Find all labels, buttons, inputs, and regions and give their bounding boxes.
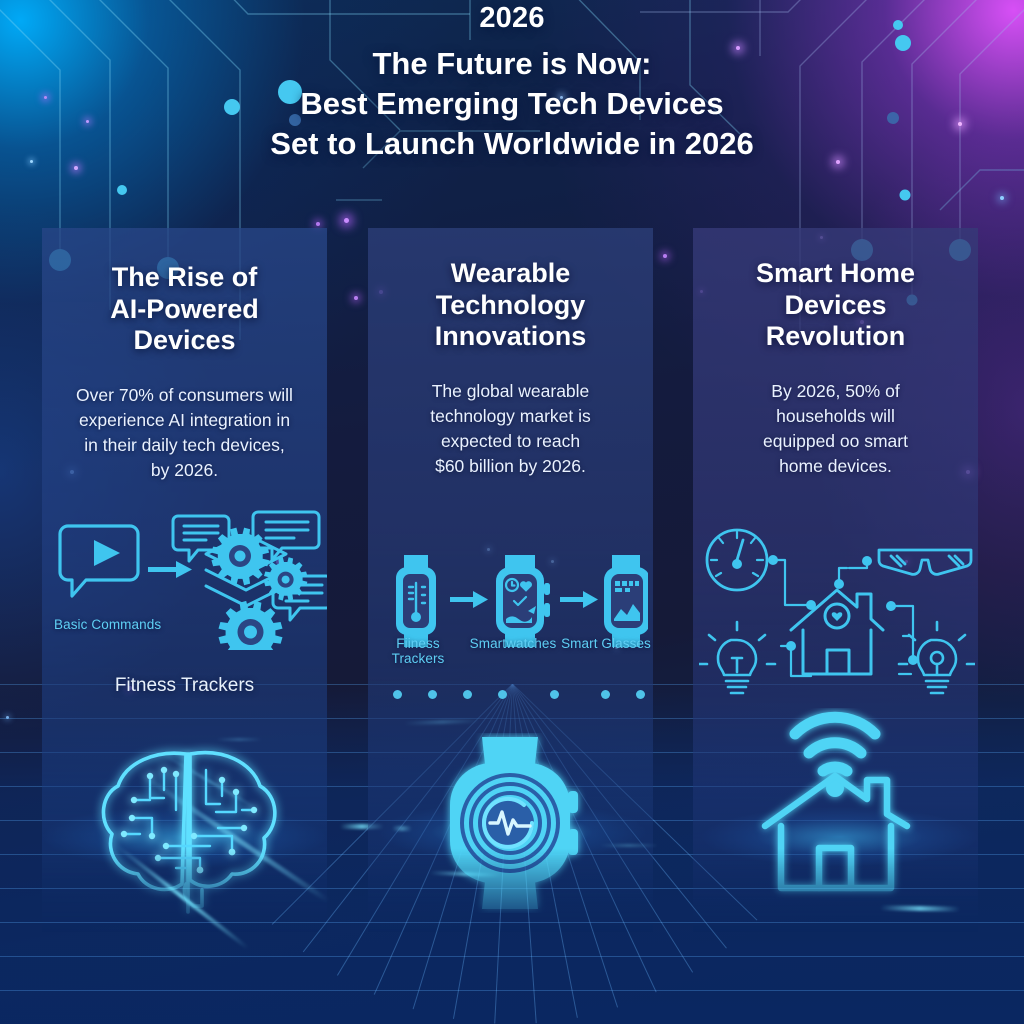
panel-2-title: Wearable Technology Innovations [368,228,653,353]
panel-3-body-line-2: households will [719,404,952,429]
circuit-brain-icon [90,740,290,920]
gear-center-3 [244,626,257,639]
arrow-right-icon [148,561,192,578]
panel-1-title-line-3: Devices [58,325,311,357]
header-title-line-3: Set to Launch Worldwide in 2026 [0,126,1024,162]
panel-3-body-line-4: home devices. [719,454,952,479]
panel-2-title-line-3: Innovations [384,321,637,353]
house-wifi-icon [751,708,921,903]
smartwatch-pulse-icon [432,733,590,913]
panel-3-body: By 2026, 50% of households will equipped… [693,353,978,480]
header-year: 2026 [0,2,1024,35]
panel-1-title: The Rise of AI-Powered Devices [42,228,327,357]
panel-2-title-line-2: Technology [384,290,637,322]
infographic-header: 2026 The Future is Now: Best Emerging Te… [0,0,1024,162]
glasses-icon [879,550,971,574]
panel-2-body-line-4: $60 billion by 2026. [394,454,627,479]
panel-1-title-line-1: The Rise of [58,262,311,294]
header-title-line-1: The Future is Now: [0,46,1024,82]
panel-3-title-line-1: Smart Home [709,258,962,290]
panel-2-flow-label-3: Smart Glasses [558,636,654,651]
panel-2-flow-label-2: Smartwatches [465,636,561,651]
gear-center-1 [235,551,246,562]
panel-row: The Rise of AI-Powered Devices Over 70% … [0,228,1024,938]
gauge-icon [707,530,767,590]
panel-1-sub-caption: Fitness Trackers [42,675,327,697]
panel-2-body-line-3: expected to reach [394,429,627,454]
house-heart-icon [791,590,883,674]
panel-1-body-line-1: Over 70% of consumers will [68,383,301,408]
gear-center-2 [282,576,290,584]
panel-3-title: Smart Home Devices Revolution [693,228,978,353]
panel-2-body: The global wearable technology market is… [368,353,653,480]
play-triangle-icon [94,540,120,566]
lightbulb-icon-left [699,622,775,693]
arrow-right-icon-2 [560,591,598,608]
panel-smart-home-devices[interactable]: Smart Home Devices Revolution By 2026, 5… [693,228,978,933]
panel-2-title-line-1: Wearable [384,258,637,290]
panel-3-title-line-3: Revolution [709,321,962,353]
progress-dot-row [393,690,633,699]
panel-wearable-technology[interactable]: Wearable Technology Innovations The glob… [368,228,653,933]
panel-1-body-line-2: experience AI integration in [68,408,301,433]
panel-1-body: Over 70% of consumers will experience AI… [42,357,327,484]
panel-2-body-line-2: technology market is [394,404,627,429]
header-title-line-2: Best Emerging Tech Devices [0,86,1024,122]
panel-2-flow-label-1: Fiiness Trackers [370,636,466,666]
smart-home-network-icon-group [699,518,975,718]
panel-1-flow-caption: Basic Commands [54,617,234,632]
panel-1-body-line-4: by 2026. [68,458,301,483]
panel-3-title-line-2: Devices [709,290,962,322]
panel-2-body-line-1: The global wearable [394,379,627,404]
panel-3-body-line-3: equipped oo smart [719,429,952,454]
panel-ai-powered-devices[interactable]: The Rise of AI-Powered Devices Over 70% … [42,228,327,933]
arrow-right-icon-1 [450,591,488,608]
heart-icon [832,612,842,621]
panel-3-body-line-1: By 2026, 50% of [719,379,952,404]
wearable-flow-icon-group [374,553,648,649]
wifi-waves-icon [795,717,875,771]
panel-1-title-line-2: AI-Powered [58,294,311,326]
panel-1-body-line-3: in their daily tech devices, [68,433,301,458]
